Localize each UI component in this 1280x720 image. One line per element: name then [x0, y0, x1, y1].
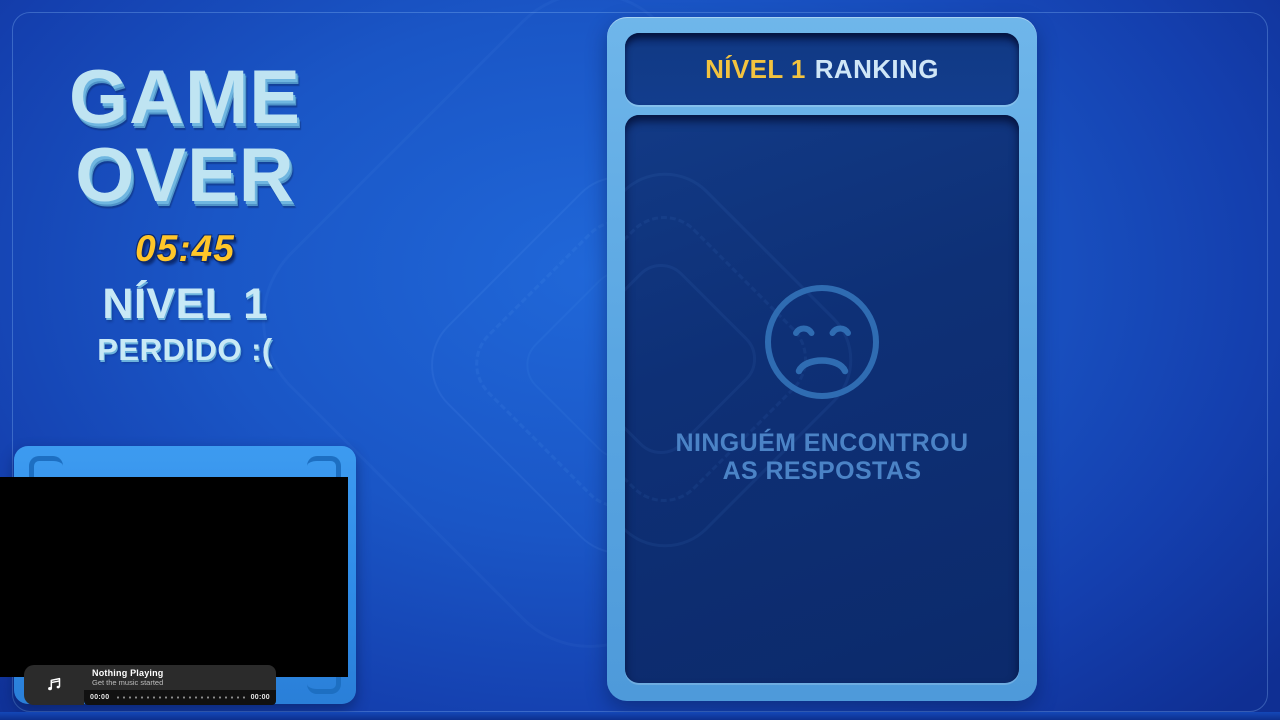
ranking-header: NÍVEL 1 RANKING: [625, 33, 1019, 105]
game-over-line-1: GAME: [0, 62, 370, 134]
level-label: NÍVEL 1: [0, 280, 370, 329]
empty-state-text: NINGUÉM ENCONTROU AS RESPOSTAS: [676, 429, 969, 485]
game-over-line-2: OVER: [0, 140, 370, 212]
sad-face-icon: [763, 283, 881, 401]
empty-state-line-2: AS RESPOSTAS: [676, 457, 969, 485]
ranking-panel: NÍVEL 1 RANKING NINGUÉM ENCONTROU AS RES…: [607, 17, 1037, 701]
music-subtitle: Get the music started: [92, 678, 276, 687]
empty-state: NINGUÉM ENCONTROU AS RESPOSTAS: [676, 283, 969, 485]
video-surface[interactable]: [0, 477, 348, 677]
ranking-header-level: NÍVEL 1: [705, 54, 806, 85]
music-text-block: Nothing Playing Get the music started: [84, 665, 276, 690]
music-title: Nothing Playing: [92, 668, 276, 678]
game-over-block: GAME OVER 05:45 NÍVEL 1 PERDIDO :(: [0, 62, 370, 368]
ranking-list-area: NINGUÉM ENCONTROU AS RESPOSTAS: [625, 115, 1019, 683]
music-info: Nothing Playing Get the music started 00…: [84, 665, 276, 705]
music-player[interactable]: Nothing Playing Get the music started 00…: [24, 665, 276, 705]
empty-state-line-1: NINGUÉM ENCONTROU: [676, 429, 969, 457]
music-progress-row[interactable]: 00:00 00:00: [84, 690, 276, 705]
music-time-elapsed: 00:00: [90, 694, 109, 701]
stream-widget[interactable]: Nothing Playing Get the music started 00…: [14, 446, 356, 704]
music-progress-track[interactable]: [115, 696, 244, 699]
ranking-header-label: RANKING: [815, 54, 939, 85]
bottom-strip: [0, 712, 1280, 720]
music-time-total: 00:00: [251, 694, 270, 701]
music-note-icon: [24, 665, 84, 705]
result-label: PERDIDO :(: [0, 332, 370, 368]
match-timer: 05:45: [0, 228, 370, 270]
game-screen: GAME OVER 05:45 NÍVEL 1 PERDIDO :(: [0, 0, 1280, 720]
